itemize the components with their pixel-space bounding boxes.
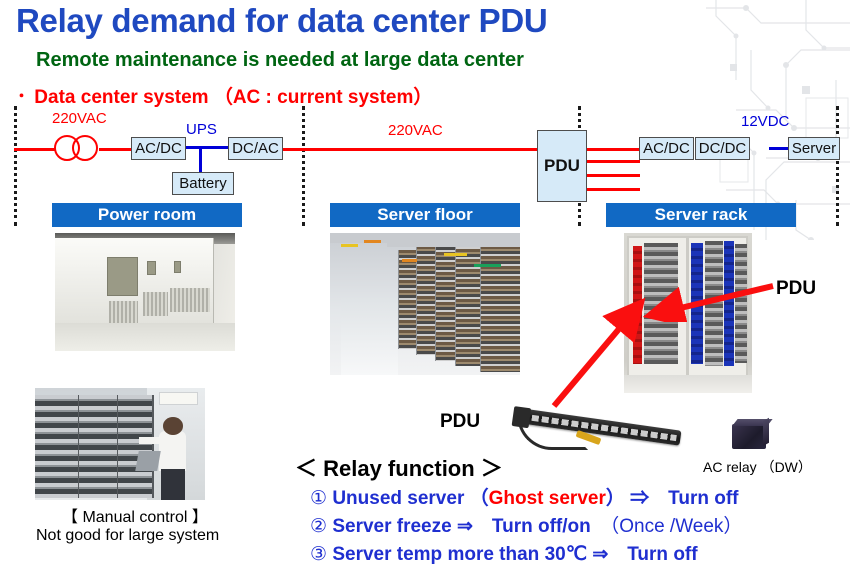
power-room-control-panel	[107, 257, 138, 297]
manual-control-rack	[118, 395, 154, 498]
wire-pdu-branch-2	[586, 174, 640, 177]
server-rack-floor	[624, 375, 752, 393]
slide-canvas: Relay demand for data center PDU Remote …	[0, 0, 850, 569]
label-220vac-mid: 220VAC	[388, 122, 443, 139]
box-pdu[interactable]: PDU	[537, 130, 587, 202]
photo-power-room	[55, 233, 235, 351]
power-room-vent	[170, 288, 210, 312]
server-floor-ceiling-beam	[387, 243, 520, 247]
banner-server-rack: Server rack	[606, 203, 796, 227]
callout-pdu-rack: PDU	[776, 278, 816, 300]
box-dcdc[interactable]: DC/DC	[695, 137, 750, 160]
relay-item-post: ） ⇒ Turn off	[606, 488, 739, 509]
server-floor-cable	[444, 253, 467, 256]
relay-item-tail: （Once /Week）	[610, 516, 743, 537]
power-room-control-panel	[174, 261, 181, 272]
wire-pdu-branch-1	[586, 160, 640, 163]
power-room-cabinet	[55, 238, 103, 325]
wire-pdu-branch-3	[586, 188, 640, 191]
server-rack-blue-cabling	[724, 241, 734, 366]
server-floor-cable	[402, 259, 417, 262]
wire-battery-drop	[199, 146, 202, 174]
callout-pdu-strip: PDU	[440, 411, 480, 433]
technician-arm	[139, 437, 163, 444]
caption-manual-title: 【 Manual control 】	[62, 503, 208, 527]
divider-right	[836, 106, 839, 226]
server-rack-equipment	[735, 244, 747, 362]
technician-legs	[161, 469, 185, 500]
server-floor-ceiling-beam	[330, 233, 520, 243]
label-ups: UPS	[186, 121, 217, 138]
server-floor-rack	[435, 242, 457, 361]
server-rack-blue-cabling	[691, 243, 704, 365]
technician-head	[163, 417, 183, 435]
box-dcac[interactable]: DC/AC	[228, 137, 283, 160]
manual-control-rack	[79, 395, 118, 498]
bullet-dot-icon: ・	[14, 88, 29, 105]
ac-relay-body	[732, 424, 767, 449]
ceiling-light	[159, 392, 198, 404]
wire-dcdc-server	[769, 147, 789, 150]
relay-function-header: ＜ Relay function ＞	[295, 451, 503, 483]
server-floor-aisle	[341, 297, 398, 375]
server-floor-rack	[455, 239, 481, 367]
wire-main-left	[14, 148, 56, 151]
label-220vac-in: 220VAC	[52, 110, 107, 127]
server-rack-red-cabling	[633, 246, 642, 364]
box-battery[interactable]: Battery	[172, 172, 234, 195]
server-floor-cable	[474, 264, 501, 267]
relay-item-pre: Server temp more than 30℃ ⇒ Turn off	[327, 544, 698, 565]
photo-ac-relay	[726, 415, 774, 455]
power-room-floor	[55, 323, 235, 351]
caption-manual-sub: Not good for large system	[36, 527, 219, 545]
server-floor-cable	[364, 240, 381, 243]
photo-server-floor	[330, 233, 520, 375]
server-floor-rack	[416, 246, 436, 355]
relay-item-number: ③	[310, 544, 327, 565]
box-server[interactable]: Server	[788, 137, 840, 160]
divider-mid1	[302, 106, 305, 226]
power-room-vent	[143, 292, 168, 316]
box-acdc-1[interactable]: AC/DC	[131, 137, 186, 160]
server-rack-equipment	[644, 243, 677, 365]
box-acdc-2[interactable]: AC/DC	[639, 137, 694, 160]
photo-manual-control	[35, 388, 205, 500]
banner-power-room: Power room	[52, 203, 242, 227]
relay-function-item-3: ③ Server temp more than 30℃ ⇒ Turn off	[310, 539, 698, 566]
photo-pdu-strip	[500, 398, 690, 456]
caption-ac-relay: AC relay （DW）	[703, 457, 812, 477]
relay-item-number: ①	[310, 488, 327, 509]
technician-laptop	[135, 451, 161, 471]
relay-item-pre: Server freeze ⇒ Turn off/on	[327, 516, 610, 537]
relay-function-item-2: ② Server freeze ⇒ Turn off/on （Once /Wee…	[310, 511, 742, 538]
photo-server-rack	[624, 233, 752, 393]
power-room-vent	[109, 301, 138, 322]
divider-left	[14, 106, 17, 226]
server-floor-rack	[398, 250, 416, 349]
banner-server-floor: Server floor	[330, 203, 520, 227]
server-floor-cable	[341, 244, 358, 247]
transformer-coil-right	[72, 135, 98, 161]
subtitle: Remote maintenance is needed at large da…	[36, 49, 524, 72]
server-floor-rack	[480, 236, 520, 372]
label-12vdc: 12VDC	[741, 113, 789, 130]
bullet-line: ・ Data center system （AC : current syste…	[14, 82, 432, 109]
bullet-text: Data center system （AC : current system）	[34, 87, 432, 108]
page-title: Relay demand for data center PDU	[16, 2, 547, 40]
relay-item-number: ②	[310, 516, 327, 537]
relay-function-item-1: ① Unused server （Ghost server） ⇒ Turn of…	[310, 483, 738, 510]
relay-item-highlight: Ghost server	[489, 488, 606, 509]
power-room-control-panel	[147, 261, 156, 275]
server-rack-equipment	[705, 241, 723, 366]
wire-xfmr-acdc	[99, 148, 133, 151]
manual-control-rack	[35, 395, 80, 498]
technician-body	[159, 431, 186, 471]
relay-item-pre: Unused server （	[327, 488, 489, 509]
wire-pdu-acdc2	[586, 148, 640, 151]
ac-relay-side	[763, 418, 769, 446]
